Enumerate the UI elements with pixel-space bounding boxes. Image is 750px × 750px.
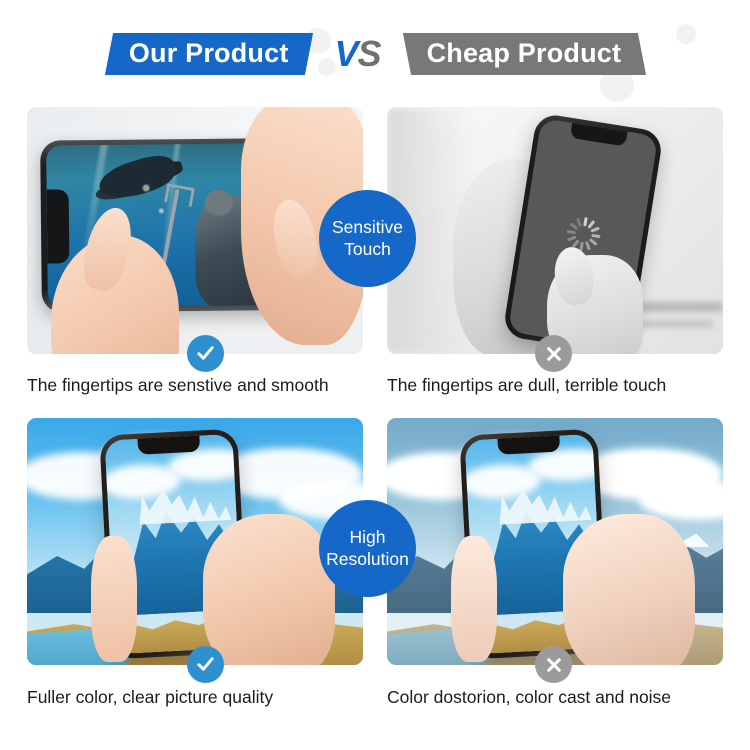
- check-icon: [187, 335, 224, 372]
- badge-line-2: Resolution: [326, 549, 409, 571]
- caption-resolution-our: Fuller color, clear picture quality: [27, 687, 273, 708]
- phone-notch: [497, 436, 560, 455]
- badge-high-resolution: High Resolution: [319, 500, 416, 597]
- our-product-banner: Our Product: [109, 33, 309, 75]
- fingers: [451, 536, 497, 662]
- vs-letter-v: V: [335, 33, 358, 74]
- badge-line-1: High: [350, 527, 386, 549]
- caption-touch-cheap: The fingertips are dull, terrible touch: [387, 375, 666, 396]
- photo-resolution-our: [27, 418, 363, 665]
- cell-touch-our: The fingertips are senstive and smooth: [27, 107, 375, 418]
- badge-line-2: Touch: [344, 239, 391, 261]
- comparison-header: Our Product VS Cheap Product: [0, 0, 750, 107]
- photo-resolution-cheap: [387, 418, 723, 665]
- phone-notch: [570, 123, 628, 147]
- caption-resolution-cheap: Color dostorion, color cast and noise: [387, 687, 671, 708]
- cell-resolution-our: Fuller color, clear picture quality: [27, 418, 375, 730]
- bubble: [159, 208, 164, 213]
- phone-notch: [47, 189, 70, 263]
- holding-hand: [563, 514, 695, 665]
- our-product-label: Our Product: [129, 40, 289, 67]
- decorative-circle: [318, 58, 336, 76]
- cheap-product-banner: Cheap Product: [407, 33, 642, 75]
- check-icon: [187, 646, 224, 683]
- x-icon: [535, 335, 572, 372]
- badge-sensitive-touch: Sensitive Touch: [319, 190, 416, 287]
- decorative-circle: [676, 24, 696, 44]
- fingers: [91, 536, 137, 662]
- badge-line-1: Sensitive: [332, 217, 403, 239]
- phone-notch: [137, 436, 200, 455]
- vs-letter-s: S: [358, 33, 381, 74]
- diver-head: [205, 190, 233, 216]
- photo-touch-our: [27, 107, 363, 354]
- cell-resolution-cheap: Color dostorion, color cast and noise: [375, 418, 723, 730]
- bubble: [143, 184, 150, 191]
- photo-touch-cheap: [387, 107, 723, 354]
- caption-touch-our: The fingertips are senstive and smooth: [27, 375, 329, 396]
- cell-touch-cheap: The fingertips are dull, terrible touch: [375, 107, 723, 418]
- cheap-product-label: Cheap Product: [427, 40, 622, 67]
- holding-hand: [203, 514, 335, 665]
- x-icon: [535, 646, 572, 683]
- vs-separator: VS: [335, 36, 381, 72]
